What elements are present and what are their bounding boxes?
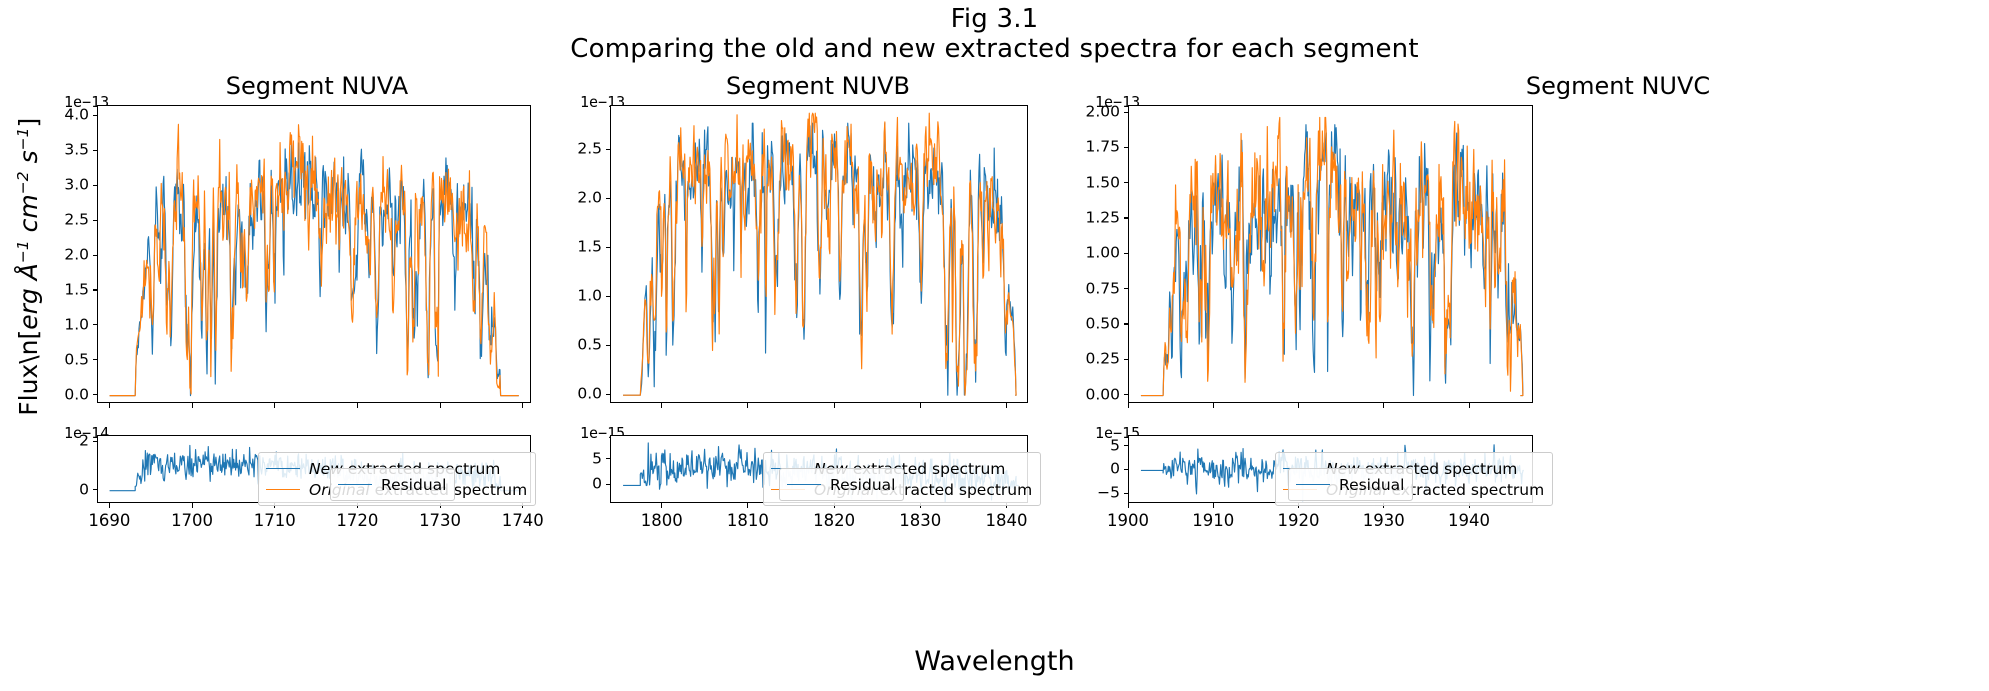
x-tick-label: 1690 — [88, 513, 130, 530]
x-tick-mark — [192, 403, 193, 408]
plot-area-nuva-flux — [97, 105, 531, 403]
x-axis-label: Wavelength — [0, 646, 1989, 677]
y-tick-mark — [93, 150, 98, 151]
y-tick-mark — [1124, 217, 1129, 218]
y-tick-label: 0.5 — [518, 337, 602, 353]
y-tick-label: 2.0 — [5, 247, 89, 263]
x-tick-mark — [920, 403, 921, 408]
y-tick-mark — [93, 220, 98, 221]
legend-line-residual — [787, 484, 821, 485]
legend-line-original — [266, 489, 300, 490]
y-tick-mark — [606, 394, 611, 395]
x-tick-label: 1930 — [1363, 513, 1405, 530]
legend-residual-label: Residual — [1339, 475, 1404, 495]
y-tick-mark — [93, 394, 98, 395]
y-tick-label: 0.0 — [5, 387, 89, 403]
y-tick-mark — [1124, 469, 1129, 470]
legend-residual-label: Residual — [381, 475, 446, 495]
y-tick-mark — [1124, 147, 1129, 148]
y-tick-label: 1.25 — [1036, 210, 1120, 226]
legend-nuva-residual: Residual — [330, 468, 455, 501]
y-tick-mark — [606, 296, 611, 297]
x-tick-label: 1740 — [502, 513, 544, 530]
x-tick-mark — [440, 403, 441, 408]
x-tick-mark — [1006, 403, 1007, 408]
y-tick-mark — [1124, 323, 1129, 324]
series-line — [110, 124, 519, 395]
x-tick-label: 1940 — [1448, 513, 1490, 530]
panel-title-nuvb: Segment NUVB — [593, 72, 1043, 100]
y-tick-mark — [1124, 253, 1129, 254]
x-tick-mark — [1128, 503, 1129, 508]
y-tick-label: 1.50 — [1036, 175, 1120, 191]
x-tick-label: 1730 — [419, 513, 461, 530]
y-tick-mark — [93, 489, 98, 490]
plot-area-nuvc-flux — [1128, 105, 1533, 403]
plot-area-nuvb-flux — [610, 105, 1028, 403]
y-tick-mark — [93, 324, 98, 325]
y-tick-mark — [93, 255, 98, 256]
y-tick-mark — [93, 185, 98, 186]
x-tick-mark — [1213, 403, 1214, 408]
panel-title-nuvc: Segment NUVC — [1393, 72, 1843, 100]
figure-title: Fig 3.1 Comparing the old and new extrac… — [0, 4, 1989, 64]
x-tick-label: 1900 — [1107, 513, 1149, 530]
y-tick-label: 1.75 — [1036, 140, 1120, 156]
y-tick-mark — [93, 115, 98, 116]
x-tick-label: 1840 — [985, 513, 1027, 530]
legend-residual-label: Residual — [830, 475, 895, 495]
y-tick-label: 0.75 — [1036, 281, 1120, 297]
x-tick-mark — [1383, 403, 1384, 408]
x-tick-label: 1830 — [899, 513, 941, 530]
y-tick-label: 1.0 — [518, 288, 602, 304]
x-tick-mark — [109, 403, 110, 408]
x-tick-mark — [274, 403, 275, 408]
x-tick-mark — [192, 503, 193, 508]
y-tick-label: 3.5 — [5, 143, 89, 159]
y-tick-mark — [606, 149, 611, 150]
y-tick-mark — [1124, 394, 1129, 395]
legend-line-residual — [1296, 484, 1330, 485]
y-tick-mark — [1124, 359, 1129, 360]
x-tick-label: 1710 — [254, 513, 296, 530]
y-tick-label: 2.0 — [518, 190, 602, 206]
x-tick-label: 1810 — [727, 513, 769, 530]
y-tick-label: 0.50 — [1036, 316, 1120, 332]
y-tick-mark — [93, 441, 98, 442]
legend-nuvc-residual: Residual — [1288, 468, 1413, 501]
y-tick-label: 0.25 — [1036, 351, 1120, 367]
x-tick-mark — [1128, 403, 1129, 408]
y-tick-label: 3.0 — [5, 178, 89, 194]
legend-item-residual: Residual — [787, 474, 895, 495]
panel-title-nuva: Segment NUVA — [92, 72, 542, 100]
series-line — [1141, 118, 1523, 396]
y-tick-mark — [93, 289, 98, 290]
y-tick-mark — [606, 458, 611, 459]
y-tick-mark — [1124, 112, 1129, 113]
legend-line-residual — [338, 484, 372, 485]
y-tick-label: 2 — [5, 433, 89, 449]
y-tick-mark — [1124, 445, 1129, 446]
legend-line-new — [266, 468, 300, 469]
legend-item-residual: Residual — [1296, 474, 1404, 495]
y-tick-mark — [93, 359, 98, 360]
x-tick-mark — [747, 503, 748, 508]
y-tick-label: 0 — [1036, 462, 1120, 478]
y-tick-label: 1.5 — [518, 239, 602, 255]
x-tick-mark — [1298, 403, 1299, 408]
legend-item-residual: Residual — [338, 474, 446, 495]
y-tick-label: 2.00 — [1036, 104, 1120, 120]
y-tick-label: 0 — [5, 482, 89, 498]
x-tick-mark — [747, 403, 748, 408]
y-tick-label: 0.00 — [1036, 387, 1120, 403]
x-tick-label: 1920 — [1278, 513, 1320, 530]
y-tick-label: 1.0 — [5, 317, 89, 333]
x-tick-label: 1820 — [813, 513, 855, 530]
y-tick-mark — [1124, 288, 1129, 289]
x-tick-mark — [1213, 503, 1214, 508]
figure-canvas: Fig 3.1 Comparing the old and new extrac… — [0, 0, 1989, 691]
y-tick-mark — [1124, 493, 1129, 494]
x-tick-mark — [357, 403, 358, 408]
x-tick-label: 1720 — [336, 513, 378, 530]
y-tick-label: 0.0 — [518, 386, 602, 402]
y-tick-label: 2.5 — [5, 212, 89, 228]
x-tick-label: 1800 — [641, 513, 683, 530]
x-tick-mark — [522, 403, 523, 408]
y-tick-label: 1.00 — [1036, 246, 1120, 262]
y-tick-label: 0.5 — [5, 352, 89, 368]
x-tick-mark — [109, 503, 110, 508]
x-tick-mark — [661, 403, 662, 408]
y-tick-mark — [606, 198, 611, 199]
figure-title-line1: Fig 3.1 — [951, 4, 1039, 34]
y-tick-label: 1.5 — [5, 282, 89, 298]
y-tick-label: 4.0 — [5, 108, 89, 124]
x-tick-mark — [834, 403, 835, 408]
y-tick-mark — [1124, 182, 1129, 183]
y-tick-mark — [606, 247, 611, 248]
legend-nuvb-residual: Residual — [779, 468, 904, 501]
x-tick-label: 1910 — [1192, 513, 1234, 530]
x-tick-label: 1700 — [171, 513, 213, 530]
x-tick-mark — [661, 503, 662, 508]
x-tick-mark — [1469, 403, 1470, 408]
y-tick-mark — [606, 484, 611, 485]
y-tick-mark — [606, 345, 611, 346]
figure-title-line2: Comparing the old and new extracted spec… — [0, 34, 1989, 64]
y-tick-label: 5 — [1036, 438, 1120, 454]
y-tick-label: 2.5 — [518, 141, 602, 157]
y-tick-label: −5 — [1036, 486, 1120, 502]
